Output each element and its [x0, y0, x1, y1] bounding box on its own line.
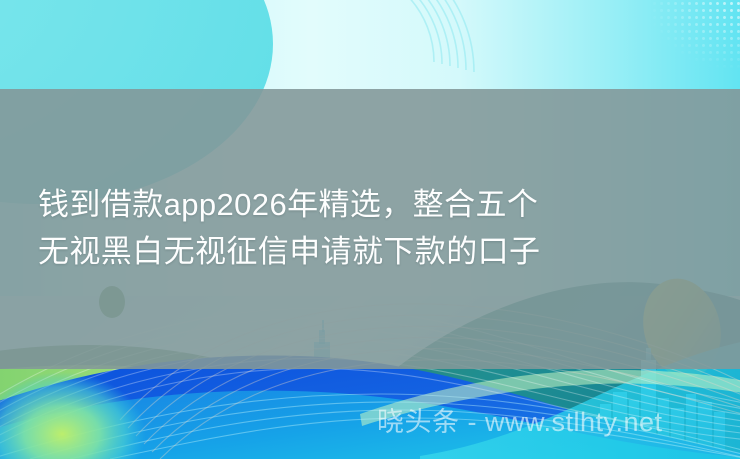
banner-image: 钱到借款app2026年精选，整合五个 无视黑白无视征信申请就下款的口子 晓头条…: [0, 0, 740, 459]
banner-artwork: [0, 0, 740, 459]
grey-overlay-tint: [0, 89, 740, 369]
